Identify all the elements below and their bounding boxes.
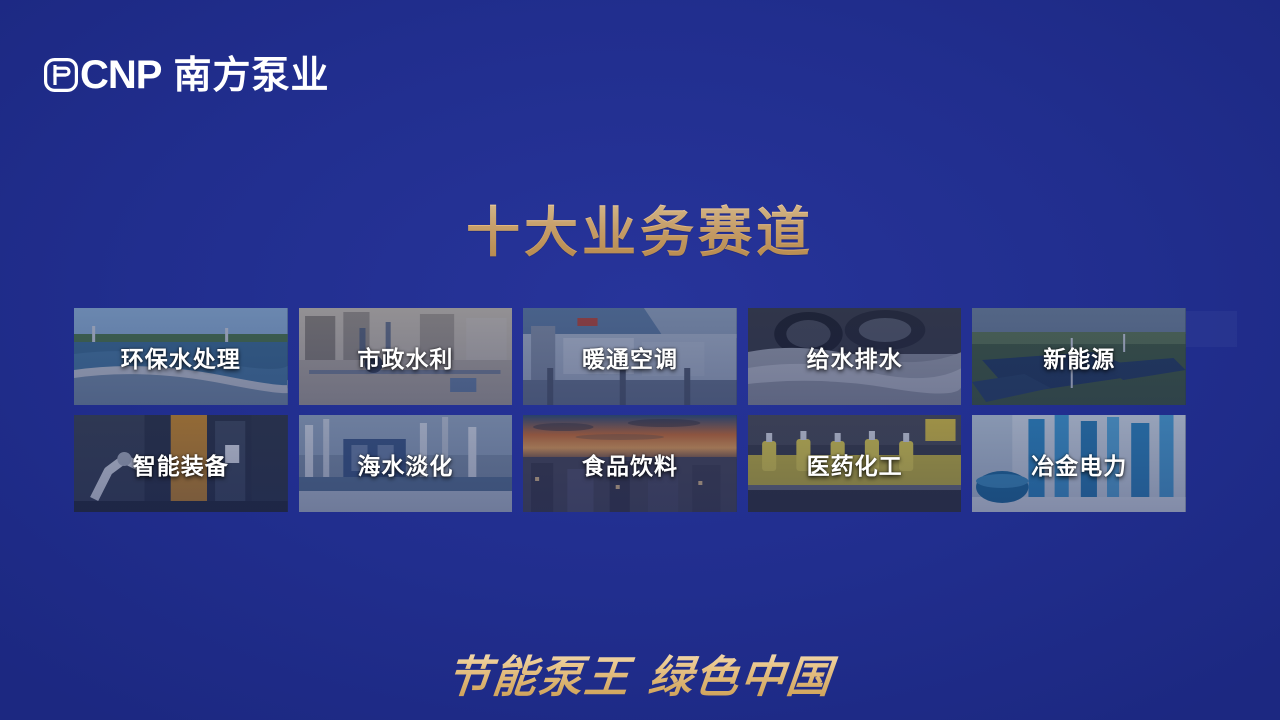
business-card-2[interactable]: 市政水利 xyxy=(299,308,513,405)
business-card-4[interactable]: 给水排水 xyxy=(748,308,962,405)
tagline-part-2: 绿色中国 xyxy=(646,652,835,703)
business-card-1[interactable]: 环保水处理 xyxy=(74,308,288,405)
business-card-7[interactable]: 海水淡化 xyxy=(299,415,513,512)
edge-artifact xyxy=(1186,311,1237,347)
business-card-label: 冶金电力 xyxy=(972,415,1186,512)
business-track-grid: 环保水处理 市政水利 xyxy=(74,308,1186,512)
business-card-label: 给水排水 xyxy=(748,308,962,405)
business-card-label: 智能装备 xyxy=(74,415,288,512)
business-card-label: 新能源 xyxy=(972,308,1186,405)
logo-latin-text: CNP xyxy=(80,55,161,95)
business-card-label: 暖通空调 xyxy=(523,308,737,405)
business-card-8[interactable]: 食品饮料 xyxy=(523,415,737,512)
business-card-label: 医药化工 xyxy=(748,415,962,512)
tagline-part-1: 节能泵王 xyxy=(444,652,633,703)
slide-tagline: 节能泵王绿色中国 xyxy=(0,641,1280,705)
business-card-5[interactable]: 新能源 xyxy=(972,308,1186,405)
business-card-label: 海水淡化 xyxy=(299,415,513,512)
logo-chinese-text: 南方泵业 xyxy=(173,56,329,94)
business-card-10[interactable]: 冶金电力 xyxy=(972,415,1186,512)
cnp-circle-mark-icon xyxy=(44,58,78,92)
business-card-label: 环保水处理 xyxy=(74,308,288,405)
presentation-slide: CNP 南方泵业 十大业务赛道 环保水处理 xyxy=(0,0,1280,720)
business-card-label: 市政水利 xyxy=(299,308,513,405)
page-title: 十大业务赛道 xyxy=(0,203,1280,262)
business-card-6[interactable]: 智能装备 xyxy=(74,415,288,512)
company-logo: CNP 南方泵业 xyxy=(44,53,329,97)
business-card-9[interactable]: 医药化工 xyxy=(748,415,962,512)
business-card-3[interactable]: 暖通空调 xyxy=(523,308,737,405)
business-card-label: 食品饮料 xyxy=(523,415,737,512)
